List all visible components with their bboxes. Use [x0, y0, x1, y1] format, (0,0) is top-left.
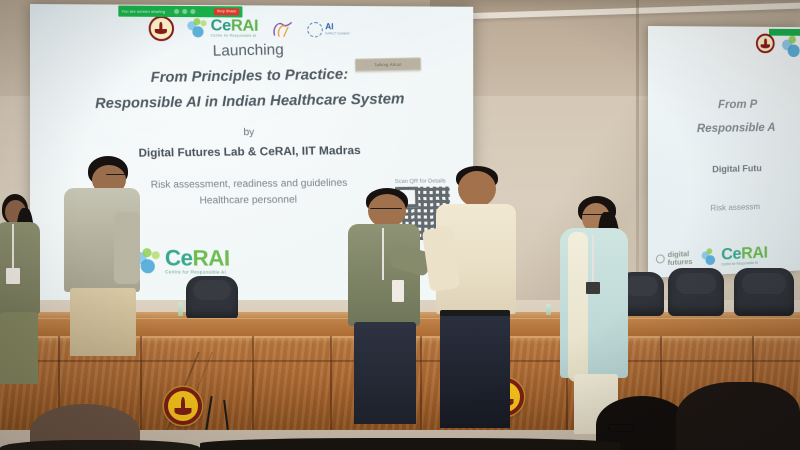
slide-title-line-2: Responsible AI in Indian Healthcare Syst… — [30, 91, 473, 113]
person-left-grey-shirt — [64, 156, 152, 356]
chair-3 — [668, 268, 724, 316]
right-organisations: Digital Futu — [648, 162, 800, 177]
right-title-line-2: Responsible A — [648, 120, 800, 136]
audience-row-bar — [200, 438, 620, 450]
iit-madras-seal-icon — [149, 15, 174, 40]
glasses-icon — [106, 174, 126, 177]
audience-shoulder-front-left — [0, 440, 200, 450]
person-far-left — [0, 194, 48, 384]
legs — [70, 288, 136, 356]
cerai-droplet-icon-right-top — [782, 36, 800, 57]
summit-circle-icon — [308, 22, 324, 37]
pause-icon[interactable] — [174, 9, 179, 14]
audience-head-front-far-right — [676, 382, 800, 450]
iit-madras-lamp-emblem — [164, 387, 202, 425]
legs — [354, 322, 416, 424]
podium-seam — [330, 336, 332, 430]
cerai-logo-right-footer: CeRAI Centre for Responsible AI — [702, 244, 768, 268]
cerai-logo: CeRAI Centre for Responsible AI — [187, 18, 258, 39]
projection-screen-right: From P Responsible A Digital Futu Risk a… — [648, 26, 800, 278]
glasses-icon — [370, 208, 402, 211]
person-dignitary-cream-shirt — [434, 166, 522, 428]
iit-madras-seal-icon-right — [756, 34, 775, 54]
id-badge — [6, 268, 20, 284]
right-title-line-1: From P — [648, 97, 800, 112]
lanyard — [382, 228, 384, 280]
chair-1 — [186, 276, 238, 320]
digital-futures-line2: futures — [668, 257, 693, 265]
head — [458, 171, 496, 207]
stop-share-button[interactable]: Stop Share — [214, 8, 240, 15]
more-icon[interactable] — [191, 9, 196, 14]
cerai-footer-tagline: Centre for Responsible AI — [165, 269, 230, 274]
cerai-tagline: Centre for Responsible AI — [211, 35, 259, 39]
dupatta — [568, 232, 588, 382]
share-control-icons — [174, 9, 195, 14]
right-slide-footer: digital futures CeRAI Centre for Respons… — [656, 244, 768, 270]
annotate-icon[interactable] — [182, 9, 187, 14]
person-presenter-olive-shirt — [348, 188, 430, 424]
water-bottle-2 — [546, 304, 551, 315]
conference-photo-scene: You are screen sharing Stop Share CeRAI — [0, 0, 800, 450]
audience-glasses-icon — [608, 424, 634, 432]
cerai-right-footer-wordmark: CeRAI — [721, 244, 767, 263]
summit-line2: IMPACT SUMMIT — [325, 32, 350, 35]
belt — [440, 310, 510, 316]
slide-logo-row: CeRAI Centre for Responsible AI AI IMPAC… — [30, 10, 473, 48]
cerai-droplet-icon — [187, 18, 207, 38]
lanyard — [592, 234, 594, 282]
digital-futures-circle-icon — [656, 254, 665, 263]
screen-share-banner: You are screen sharing Stop Share — [118, 6, 242, 18]
cerai-footer-wordmark: CeRAI — [165, 247, 230, 270]
chair-4 — [734, 268, 794, 316]
cerai-wordmark: CeRAI — [211, 18, 259, 35]
cerai-droplet-icon-right-footer — [702, 248, 718, 266]
right-subtitle-line-1: Risk assessm — [648, 200, 800, 215]
right-slide-text: From P Responsible A Digital Futu Risk a… — [648, 97, 800, 215]
slide-by-label: by — [30, 124, 473, 141]
lanyard — [12, 224, 14, 268]
torso — [348, 224, 420, 326]
swirl-logo-icon — [272, 19, 295, 39]
arm — [114, 212, 140, 284]
participant-name-chip: Talking About — [355, 57, 421, 71]
share-status-text: You are screen sharing — [121, 9, 165, 14]
water-bottle — [178, 302, 183, 316]
ai-impact-summit-logo: AI IMPACT SUMMIT — [308, 22, 350, 38]
digital-futures-logo: digital futures — [656, 250, 693, 266]
legs — [440, 312, 510, 428]
id-badge — [392, 280, 404, 302]
id-badge — [586, 282, 600, 294]
legs — [0, 312, 38, 384]
head — [368, 194, 406, 228]
